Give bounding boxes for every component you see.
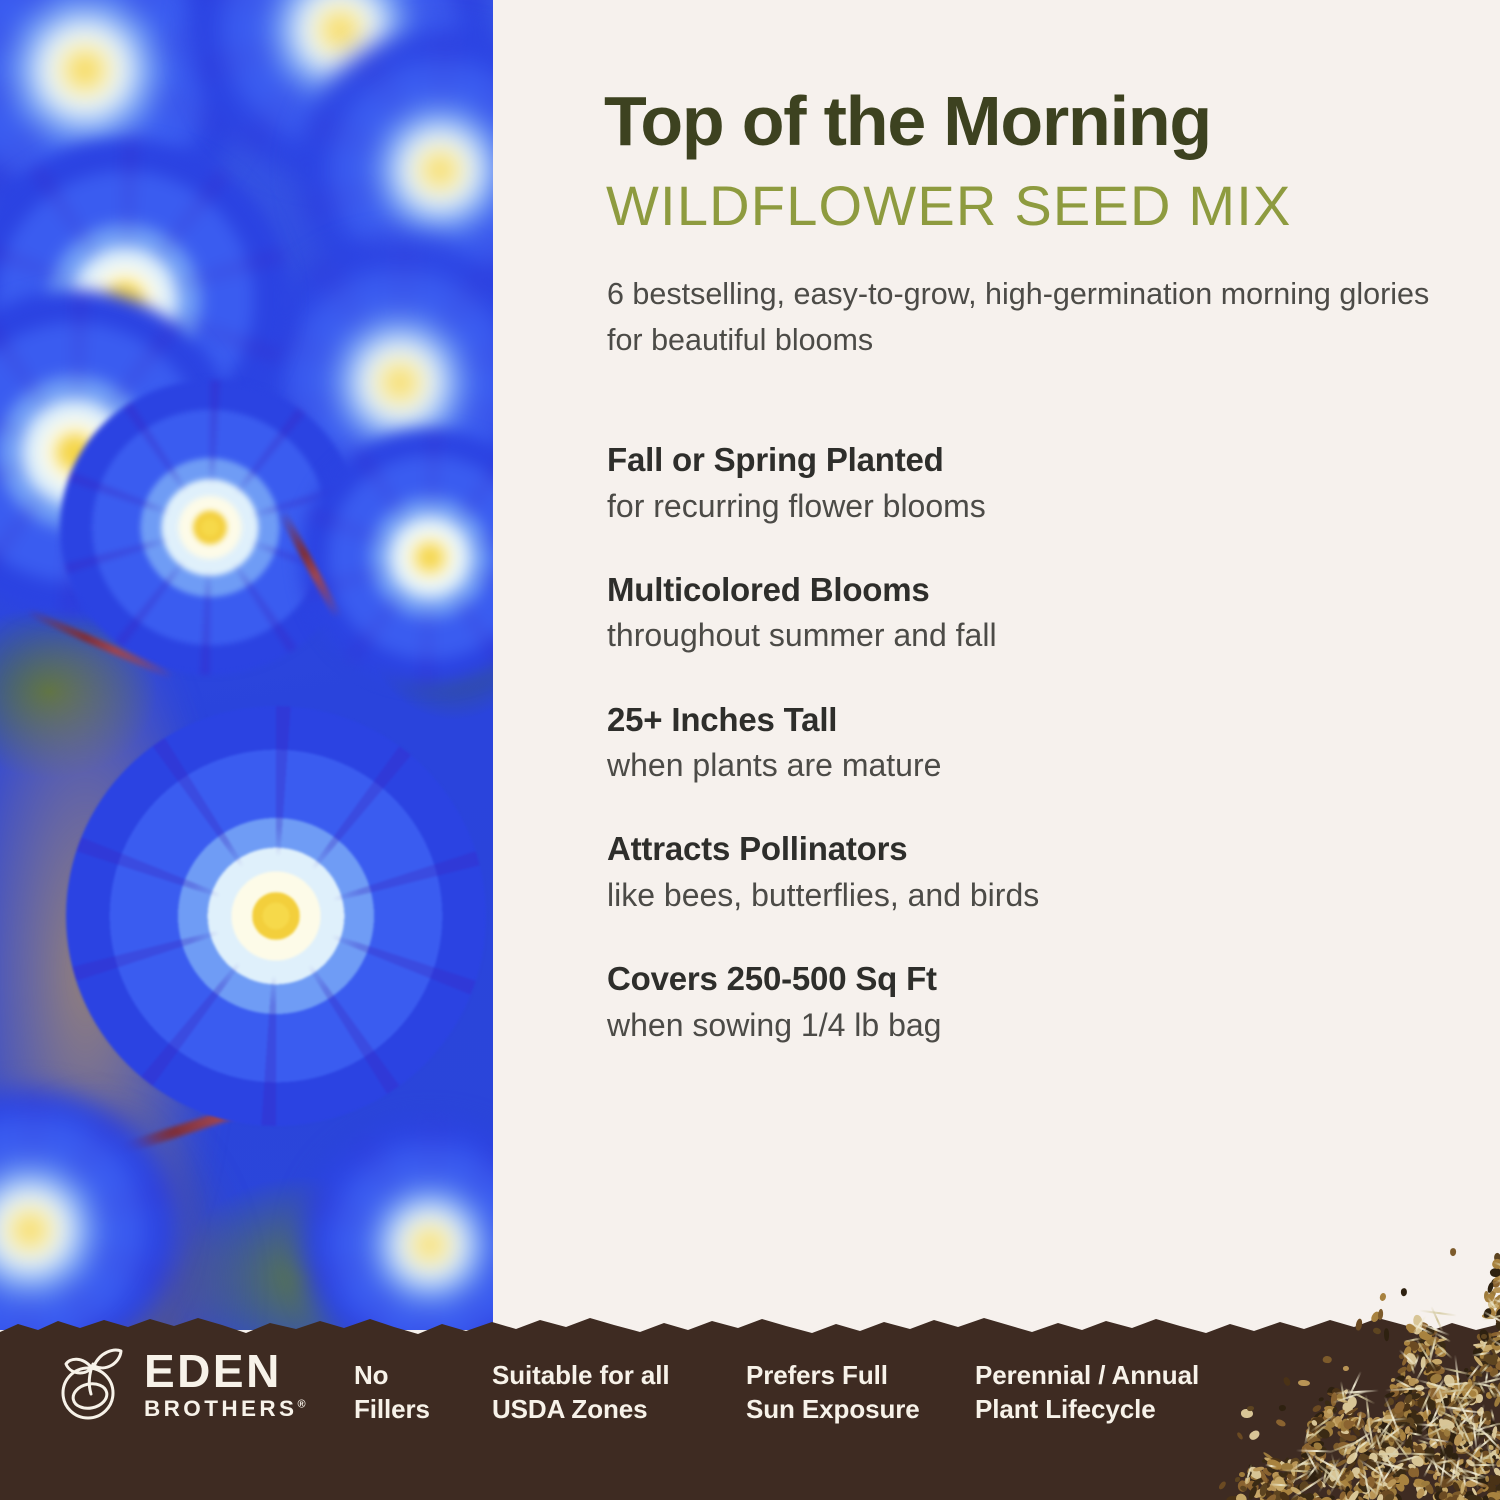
feature-title: 25+ Inches Tall <box>607 700 1447 740</box>
footer-badge-line2: Fillers <box>354 1392 430 1426</box>
footer-badge-usda-zones: Suitable for all USDA Zones <box>492 1358 670 1427</box>
feature-subtitle: throughout summer and fall <box>607 614 1447 657</box>
eden-brothers-logo: EDEN BROTHERS® <box>58 1346 306 1422</box>
footer-badge-line2: Plant Lifecycle <box>975 1392 1199 1426</box>
feature-title: Fall or Spring Planted <box>607 440 1447 480</box>
bloom-hero <box>66 706 486 1126</box>
footer-badge-line1: Prefers Full <box>746 1358 920 1392</box>
feature-title: Covers 250-500 Sq Ft <box>607 959 1447 999</box>
footer-badge-line1: No <box>354 1358 430 1392</box>
registered-mark: ® <box>297 1398 305 1410</box>
feature-item: Attracts Pollinators like bees, butterfl… <box>607 829 1447 917</box>
feature-subtitle: like bees, butterflies, and birds <box>607 874 1447 917</box>
footer-badge-line1: Suitable for all <box>492 1358 670 1392</box>
footer-badge-line2: Sun Exposure <box>746 1392 920 1426</box>
page-subtitle: WILDFLOWER SEED MIX <box>606 178 1292 234</box>
feature-item: 25+ Inches Tall when plants are mature <box>607 700 1447 788</box>
feature-item: Covers 250-500 Sq Ft when sowing 1/4 lb … <box>607 959 1447 1047</box>
feature-item: Multicolored Blooms throughout summer an… <box>607 570 1447 658</box>
feature-subtitle: when sowing 1/4 lb bag <box>607 1004 1447 1047</box>
logo-secondary-text: BROTHERS® <box>144 1398 306 1421</box>
feature-item: Fall or Spring Planted for recurring flo… <box>607 440 1447 528</box>
feature-subtitle: for recurring flower blooms <box>607 485 1447 528</box>
page-title: Top of the Morning <box>604 86 1211 156</box>
footer-badge-line1: Perennial / Annual <box>975 1358 1199 1392</box>
logo-wordmark: EDEN BROTHERS® <box>144 1348 306 1421</box>
feature-title: Attracts Pollinators <box>607 829 1447 869</box>
content-panel: Top of the Morning WILDFLOWER SEED MIX 6… <box>493 0 1500 1330</box>
footer-band: EDEN BROTHERS® No Fillers Suitable for a… <box>0 1310 1500 1500</box>
feature-list: Fall or Spring Planted for recurring flo… <box>607 440 1447 1047</box>
footer-badge-no-fillers: No Fillers <box>354 1358 430 1427</box>
seedling-sprout-icon <box>58 1346 130 1422</box>
morning-glory-photo <box>0 0 493 1330</box>
footer-badge-line2: USDA Zones <box>492 1392 670 1426</box>
feature-title: Multicolored Blooms <box>607 570 1447 610</box>
logo-primary-text: EDEN <box>144 1348 306 1394</box>
footer-badge-sun-exposure: Prefers Full Sun Exposure <box>746 1358 920 1427</box>
feature-subtitle: when plants are mature <box>607 744 1447 787</box>
page-lede: 6 bestselling, easy-to-grow, high-germin… <box>607 272 1437 364</box>
product-infographic: Top of the Morning WILDFLOWER SEED MIX 6… <box>0 0 1500 1500</box>
logo-secondary-label: BROTHERS <box>144 1396 297 1421</box>
footer-badge-plant-lifecycle: Perennial / Annual Plant Lifecycle <box>975 1358 1199 1427</box>
